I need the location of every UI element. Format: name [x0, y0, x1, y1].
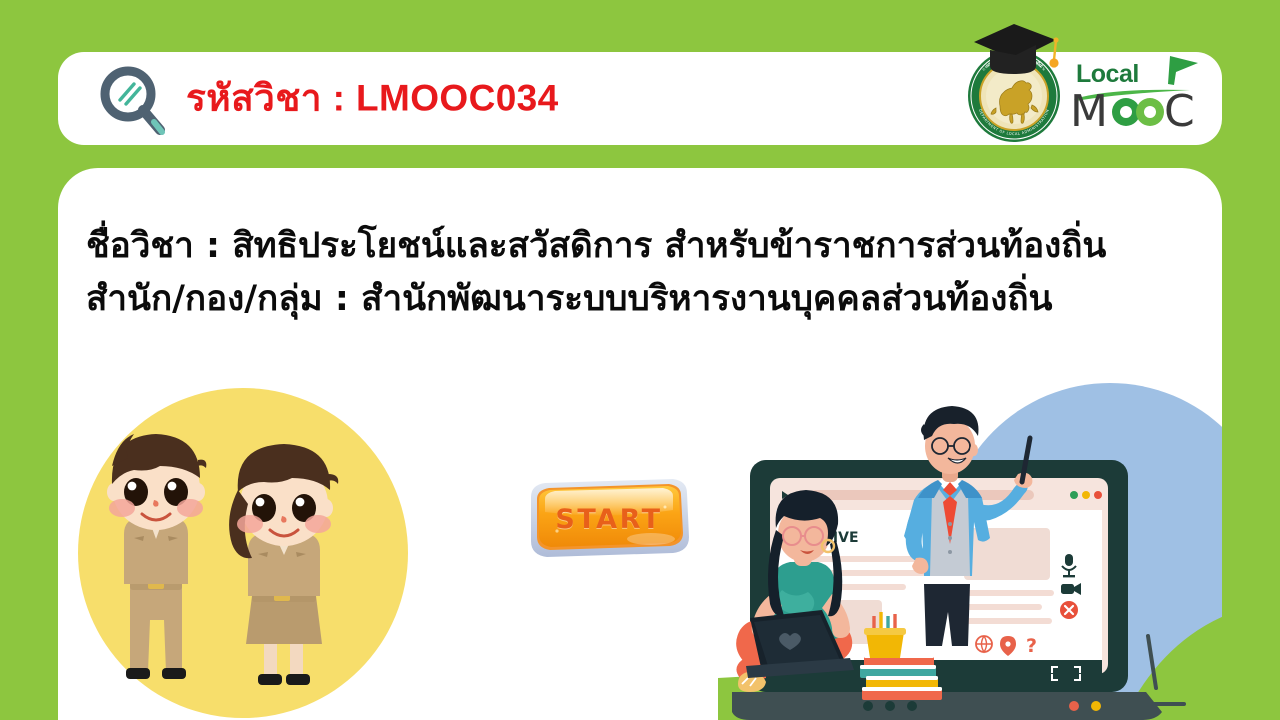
window-dot-green	[1070, 491, 1078, 499]
mooc-letters: M C	[1070, 86, 1202, 136]
thai-civil-servant-students-illustration	[78, 388, 408, 720]
main-card: ชื่อวิชา : สิทธิประโยชน์และสวัสดิการ สำห…	[58, 168, 1222, 720]
local-mooc-wordmark: Local M C	[1070, 58, 1200, 138]
header-card: รหัสวิชา : LMOOC034	[58, 52, 1222, 145]
green-flag-icon	[1162, 54, 1202, 88]
course-name-line: ชื่อวิชา : สิทธิประโยชน์และสวัสดิการ สำห…	[86, 220, 1196, 273]
book-stack	[860, 654, 942, 700]
video-camera-icon	[1061, 583, 1081, 595]
graduation-cap-icon	[970, 20, 1062, 80]
start-button[interactable]: START	[519, 473, 699, 565]
window-dot-yellow	[1082, 491, 1090, 499]
call-controls	[1054, 544, 1084, 622]
magnifier-icon	[90, 60, 176, 146]
question-mark-icon: ?	[1026, 635, 1037, 657]
window-dot-red	[1094, 491, 1102, 499]
end-call-icon	[1060, 601, 1078, 619]
student-girl	[229, 444, 338, 685]
course-code: รหัสวิชา : LMOOC034	[186, 68, 559, 127]
start-button-shape	[519, 473, 699, 565]
student-boy	[107, 434, 206, 679]
online-learning-illustration: LIVE ?	[718, 378, 1222, 720]
local-mooc-logo: กรมส่งเสริมการปกครองท้องถิ่น กรมส่งเสริม…	[962, 24, 1212, 152]
poster-canvas: รหัสวิชา : LMOOC034	[0, 0, 1280, 720]
course-info-block: ชื่อวิชา : สิทธิประโยชน์และสวัสดิการ สำห…	[86, 220, 1196, 326]
department-line: สำนัก/กอง/กลุ่ม : สำนักพัฒนาระบบบริหารงา…	[86, 273, 1196, 326]
svg-text:C: C	[1164, 86, 1195, 136]
brand-local-text: Local	[1076, 60, 1139, 89]
svg-text:M: M	[1070, 86, 1108, 136]
